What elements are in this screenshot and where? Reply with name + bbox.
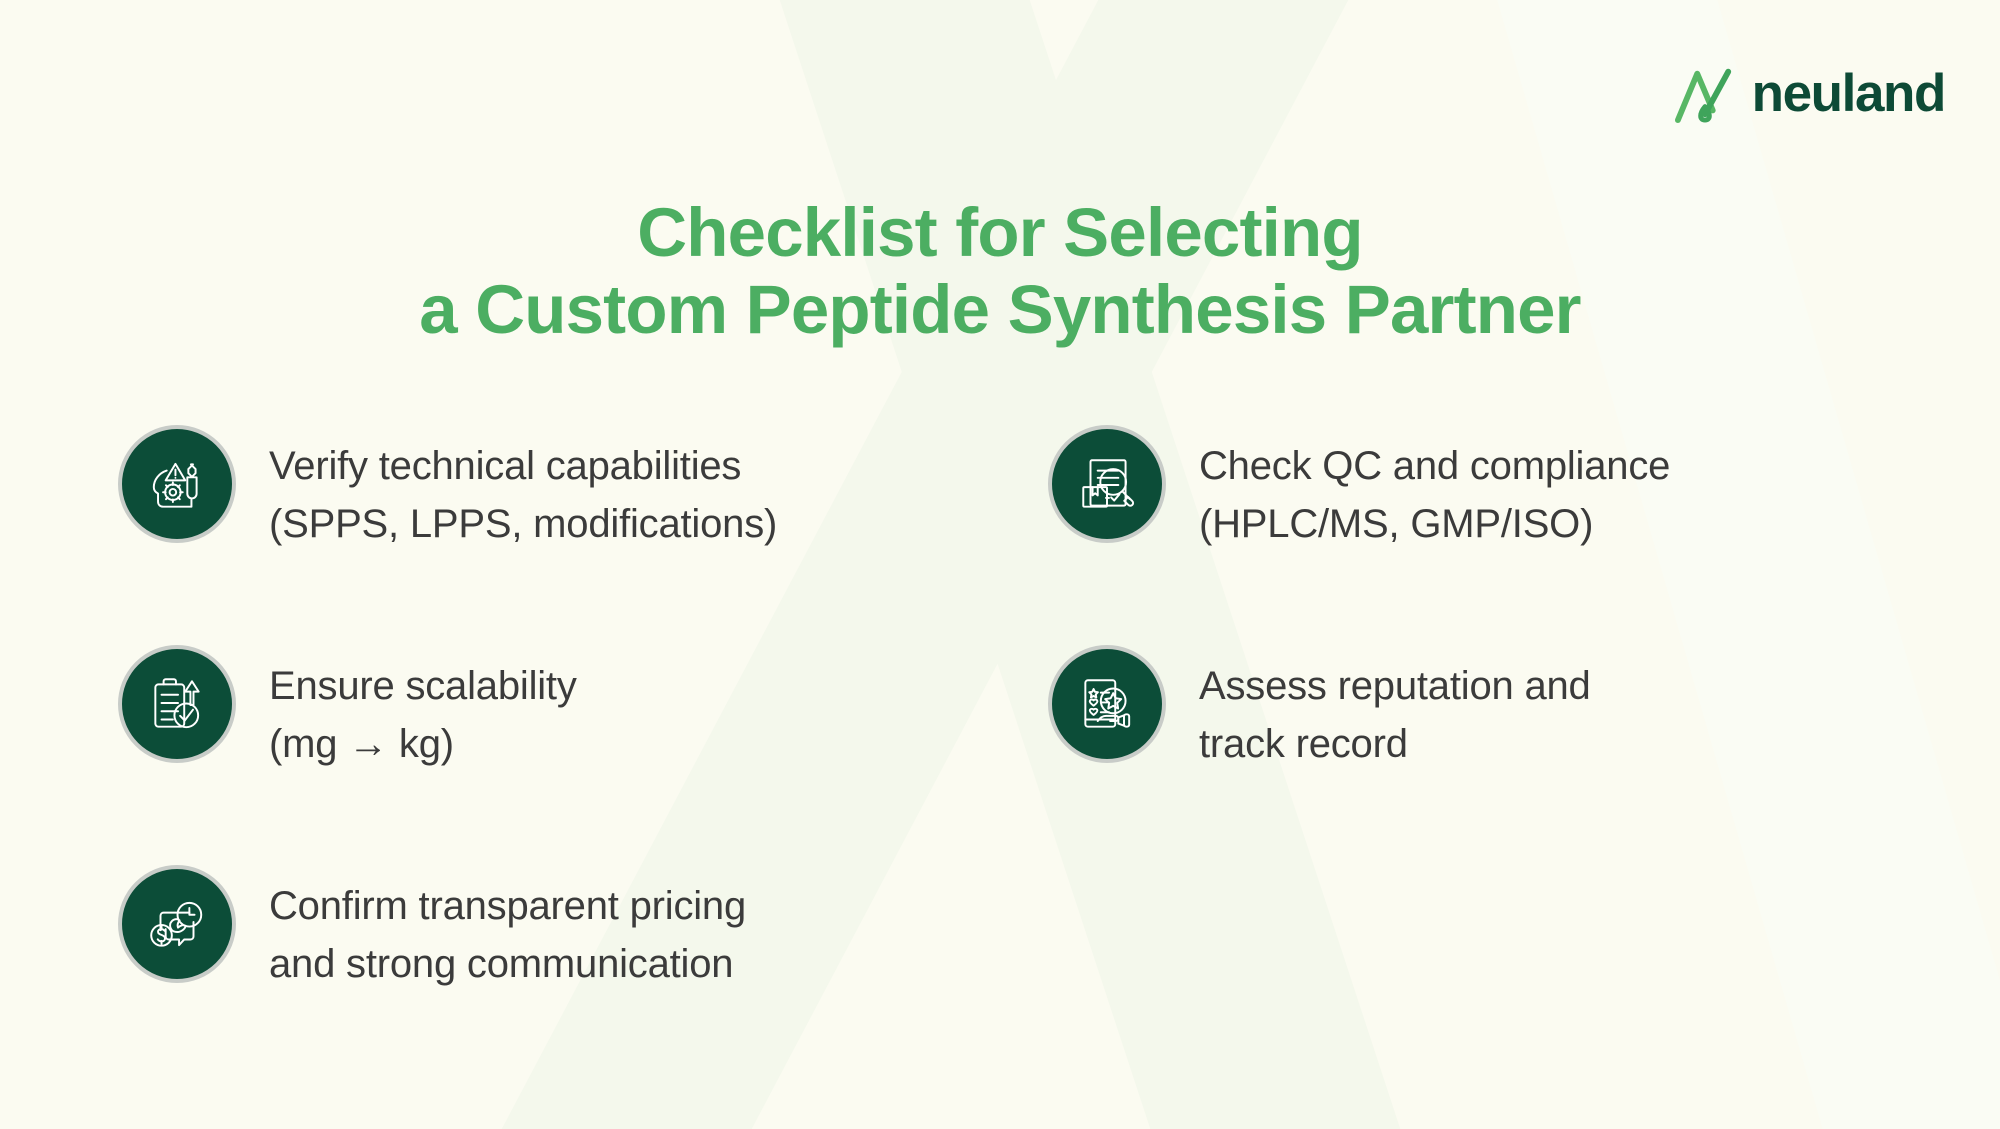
review-star-hand-icon <box>1074 671 1140 737</box>
checklist-item-text: Confirm transparent pricing and strong c… <box>269 865 746 993</box>
checklist-item-line-1: Confirm transparent pricing <box>269 878 746 936</box>
checklist-item-line-1: Check QC and compliance <box>1199 438 1670 496</box>
checklist-item-text: Check QC and compliance (HPLC/MS, GMP/IS… <box>1199 425 1670 553</box>
checklist-item-qc-compliance: Check QC and compliance (HPLC/MS, GMP/IS… <box>1048 425 1908 645</box>
checklist-item-text: Assess reputation and track record <box>1199 645 1591 773</box>
clipboard-up-arrow-check-icon <box>144 671 210 737</box>
checklist-item-text: Verify technical capabilities (SPPS, LPP… <box>269 425 777 553</box>
head-gear-wrench-icon <box>144 451 210 517</box>
checklist-item-line-2: track record <box>1199 716 1591 774</box>
checklist-item-line-1: Verify technical capabilities <box>269 438 777 496</box>
icon-circle <box>1048 645 1166 763</box>
speech-bubble-dollar-clock-icon <box>144 891 210 957</box>
icon-circle <box>118 645 236 763</box>
checklist-item-reputation: Assess reputation and track record <box>1048 645 1908 865</box>
checklist-item-line-2: and strong communication <box>269 936 746 994</box>
checklist-item-scalability: Ensure scalability (mg → kg) <box>118 645 978 865</box>
checklist-item-line-2: (HPLC/MS, GMP/ISO) <box>1199 496 1670 554</box>
checklist-item-line-1: Ensure scalability <box>269 658 577 716</box>
document-magnifier-box-icon <box>1074 451 1140 517</box>
page-title: Checklist for Selecting a Custom Peptide… <box>0 194 2000 349</box>
checklist-item-line-2: (mg → kg) <box>269 716 577 774</box>
page-title-line-1: Checklist for Selecting <box>0 194 2000 271</box>
checklist-item-line-2: (SPPS, LPPS, modifications) <box>269 496 777 554</box>
page-title-line-2: a Custom Peptide Synthesis Partner <box>0 271 2000 348</box>
checklist-item-text: Ensure scalability (mg → kg) <box>269 645 577 773</box>
brand-logo: neuland <box>1674 62 1945 124</box>
checklist-item-pricing-communication: Confirm transparent pricing and strong c… <box>118 865 978 1085</box>
neuland-lambda-droplet-icon <box>1674 62 1736 124</box>
icon-circle <box>118 865 236 983</box>
icon-circle <box>118 425 236 543</box>
checklist-item-technical-capabilities: Verify technical capabilities (SPPS, LPP… <box>118 425 978 645</box>
icon-circle <box>1048 425 1166 543</box>
brand-wordmark: neuland <box>1752 67 1945 120</box>
checklist-grid: Verify technical capabilities (SPPS, LPP… <box>118 425 1908 1085</box>
checklist-item-line-1: Assess reputation and <box>1199 658 1591 716</box>
